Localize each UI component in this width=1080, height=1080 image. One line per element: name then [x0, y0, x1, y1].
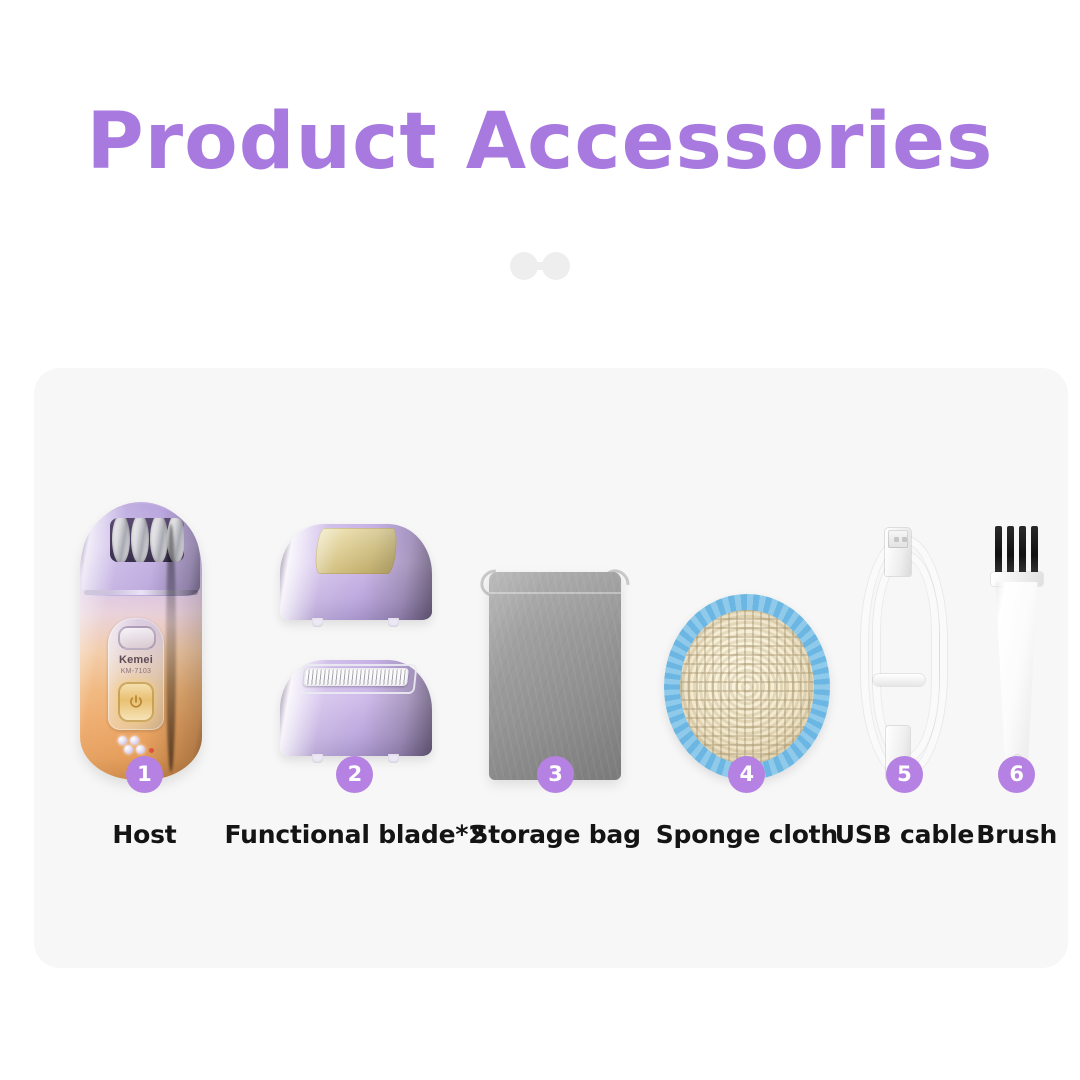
brush-bristle — [1007, 526, 1014, 578]
host-hanging-loop — [118, 626, 156, 650]
blade-heads-icon — [266, 520, 444, 780]
accessory-item-host[interactable]: Kemei KM-7103 — [40, 440, 250, 780]
host-model-text: KM-7103 — [108, 668, 164, 675]
label-sponge-cloth: Sponge cloth — [656, 820, 838, 849]
caption-storage-bag: 3 Storage bag — [461, 756, 650, 849]
accessory-item-storage-bag[interactable] — [460, 440, 650, 780]
double-dot-divider-icon — [510, 252, 570, 280]
blade-foot — [388, 618, 399, 627]
battery-indicator-icon — [116, 736, 158, 758]
brush-bristles — [995, 526, 1039, 578]
label-host: Host — [112, 820, 176, 849]
usb-a-housing — [885, 548, 911, 576]
divider-dot-right — [542, 252, 570, 280]
indicator-led — [130, 736, 139, 745]
sponge-knit-texture — [680, 610, 814, 764]
indicator-led-red — [149, 748, 154, 753]
pouch-hem-line — [489, 592, 621, 594]
accessory-item-brush[interactable] — [965, 440, 1068, 780]
brush-bristle — [1031, 526, 1038, 578]
accessory-item-usb-cable[interactable] — [844, 440, 965, 780]
round-sponge-icon — [662, 594, 832, 780]
usb-a-tip — [888, 530, 908, 548]
brush-bristle — [1019, 526, 1026, 578]
callus-roller-head — [280, 524, 432, 620]
shaver-foil — [303, 668, 409, 686]
pouch-body — [489, 572, 621, 780]
foil-shaver-head — [280, 660, 432, 756]
cable-tie — [873, 674, 925, 686]
badge-number-4: 4 — [728, 756, 765, 793]
tweezer-disc — [131, 518, 149, 562]
badge-number-3: 3 — [537, 756, 574, 793]
pouch-velvet-texture — [489, 572, 621, 780]
caption-host: 1 Host — [40, 756, 249, 849]
accessories-caption-row: 1 Host 2 Functional blade*2 3 Storage ba… — [34, 756, 1068, 876]
accessory-item-functional-blade[interactable] — [250, 440, 460, 780]
usb-a-pin — [902, 537, 907, 542]
blade-foot — [312, 618, 323, 627]
host-head-seam — [84, 590, 198, 595]
drawstring-pouch-icon — [480, 550, 630, 780]
badge-number-6: 6 — [998, 756, 1035, 793]
indicator-led — [136, 745, 145, 754]
badge-number-1: 1 — [126, 756, 163, 793]
accessories-image-row: Kemei KM-7103 — [34, 400, 1068, 780]
label-functional-blade: Functional blade*2 — [225, 820, 486, 849]
label-usb-cable: USB cable — [835, 820, 974, 849]
host-head — [82, 504, 200, 596]
callus-roller-drum — [314, 528, 399, 574]
page-header: Product Accessories — [0, 96, 1080, 188]
indicator-led — [124, 745, 133, 754]
host-brand-text: Kemei — [108, 654, 164, 666]
label-brush: Brush — [976, 820, 1057, 849]
caption-sponge-cloth: 4 Sponge cloth — [650, 756, 843, 849]
brush-handle — [993, 582, 1041, 780]
caption-brush: 6 Brush — [965, 756, 1068, 849]
power-button-icon[interactable] — [118, 682, 154, 722]
accessory-item-sponge-cloth[interactable] — [650, 440, 844, 780]
tweezer-disc — [150, 518, 168, 562]
tweezer-disc — [112, 518, 130, 562]
brush-bristle — [995, 526, 1002, 578]
usb-cable-icon — [855, 528, 955, 780]
caption-usb-cable: 5 USB cable — [843, 756, 965, 849]
label-storage-bag: Storage bag — [470, 820, 640, 849]
caption-functional-blade: 2 Functional blade*2 — [249, 756, 461, 849]
host-body-seam — [166, 524, 176, 772]
usb-a-connector — [885, 528, 911, 576]
epilator-host-icon: Kemei KM-7103 — [70, 480, 220, 780]
badge-number-2: 2 — [336, 756, 373, 793]
page-title: Product Accessories — [87, 96, 994, 188]
badge-number-5: 5 — [886, 756, 923, 793]
sponge-sisal-core — [680, 610, 814, 764]
indicator-led — [118, 736, 127, 745]
usb-a-pin — [894, 537, 899, 542]
cleaning-brush-icon — [977, 526, 1057, 780]
